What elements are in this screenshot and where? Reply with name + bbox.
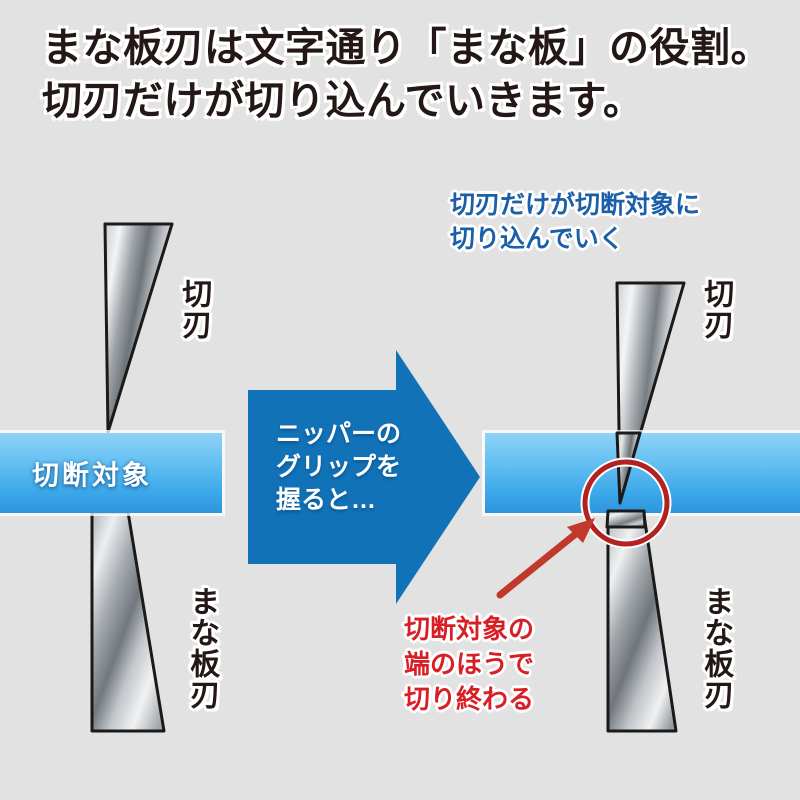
left-upper-blade-label: 切刃 [178,278,209,340]
right-lower-blade-top-overlay [607,511,645,527]
highlight-pointer-arrow-icon [500,518,595,595]
infographic-canvas: 切断対象 [0,0,800,800]
workpiece-bar-left-label: 切断対象 [32,454,152,493]
right-upper-blade-label: 切刃 [700,278,731,340]
right-lower-blade-label: まな板刃 [700,586,731,710]
page-title: まな板刃は文字通り「まな板」の役割。 切刃だけが切り込んでいきます。 [42,22,772,128]
left-lower-blade-まな板刃 [92,512,164,731]
transition-arrow-label: ニッパーの グリップを 握ると… [276,418,426,517]
workpiece-bar-right [485,433,800,513]
left-upper-blade-切刃 [105,224,172,432]
left-lower-blade-label: まな板刃 [186,586,217,710]
highlight-caption: 切断対象の 端のほうで 切り終わる [404,612,604,716]
right-lower-blade-まな板刃 [608,515,676,731]
right-diagram-heading: 切刃だけが切断対象に 切り込んでいく [450,188,790,256]
workpiece-bar-left: 切断対象 [0,433,222,513]
transition-arrow: ニッパーの グリップを 握ると… [248,350,480,604]
